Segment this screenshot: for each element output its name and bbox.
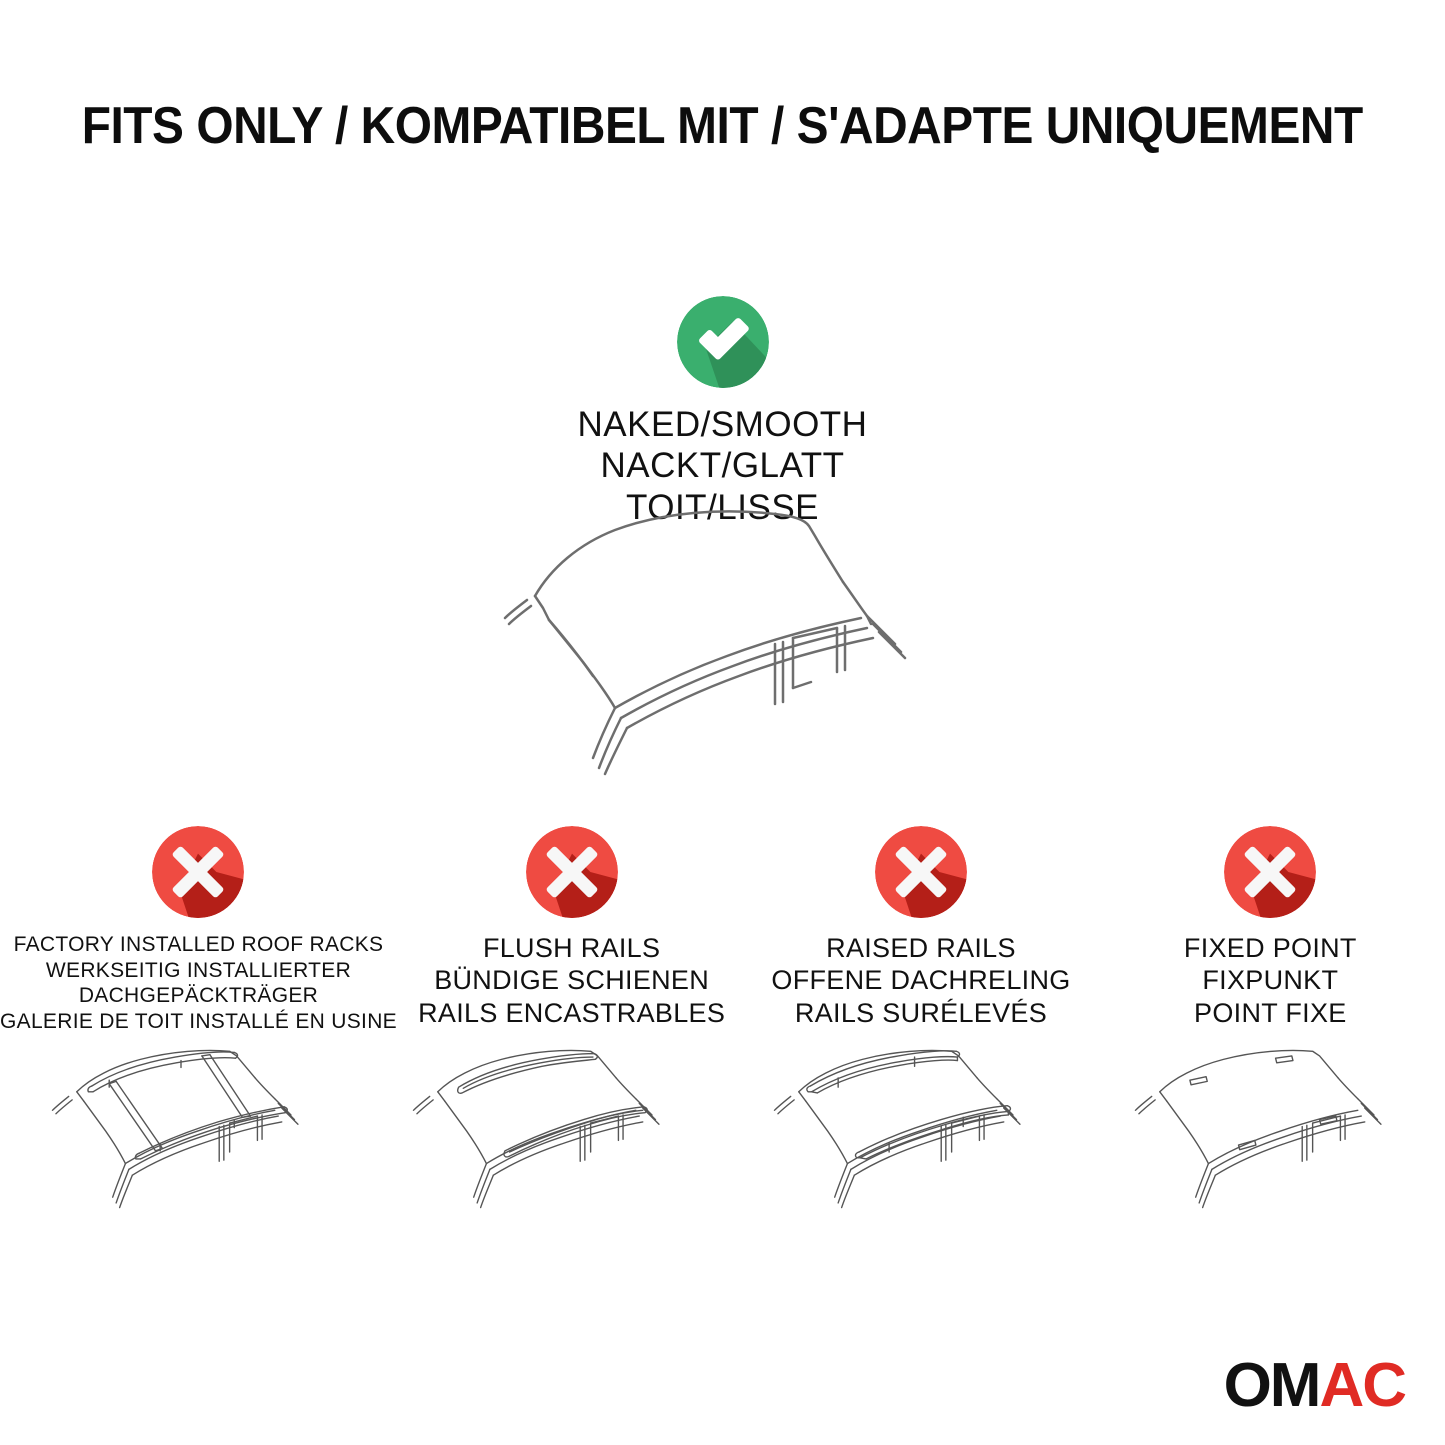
incompatible-label: FIXED POINT FIXPUNKT POINT FIXE	[1184, 932, 1357, 1029]
header: FITS ONLY / KOMPATIBEL MIT / S'ADAPTE UN…	[0, 100, 1445, 152]
x-circle-icon	[1224, 826, 1316, 918]
car-roof-raised-rails-illustration	[723, 1020, 1084, 1240]
incompatible-item-fixed-point: FIXED POINT FIXPUNKT POINT FIXE	[1096, 826, 1445, 1034]
logo-text-red: AC	[1319, 1351, 1405, 1420]
label-line-2: BÜNDIGE SCHIENEN	[418, 964, 725, 996]
label-line-2: FIXPUNKT	[1184, 964, 1357, 996]
incompatible-item-raised-rails: RAISED RAILS OFFENE DACHRELING RAILS SUR…	[746, 826, 1095, 1034]
compatible-label-line-1: NAKED/SMOOTH	[0, 404, 1445, 445]
incompatible-item-factory-installed-roof-racks: FACTORY INSTALLED ROOF RACKS WERKSEITIG …	[0, 826, 397, 1034]
compatible-label-line-2: NACKT/GLATT	[0, 445, 1445, 486]
label-line-3: DACHGEPÄCKTRÄGER	[0, 983, 397, 1009]
logo-text-dark: OM	[1224, 1351, 1320, 1420]
incompatible-label: FLUSH RAILS BÜNDIGE SCHIENEN RAILS ENCAS…	[418, 932, 725, 1029]
label-line-1: FIXED POINT	[1184, 932, 1357, 964]
x-circle-icon	[152, 826, 244, 918]
incompatible-label: RAISED RAILS OFFENE DACHRELING RAILS SUR…	[771, 932, 1070, 1029]
omac-logo: OMAC	[1224, 1355, 1405, 1417]
car-roof-factory-rack-illustration	[0, 1020, 361, 1240]
x-circle-icon	[875, 826, 967, 918]
label-line-1: RAISED RAILS	[771, 932, 1070, 964]
compatible-badge-wrap	[0, 296, 1445, 388]
car-roof-naked-smooth-illustration	[0, 496, 1445, 776]
car-roof-flush-rails-illustration	[361, 1020, 722, 1240]
label-line-2: OFFENE DACHRELING	[771, 964, 1070, 996]
x-circle-icon	[526, 826, 618, 918]
incompatible-illustrations	[0, 1020, 1445, 1240]
check-circle-icon	[677, 296, 769, 388]
incompatible-section: FACTORY INSTALLED ROOF RACKS WERKSEITIG …	[0, 826, 1445, 1034]
incompatible-item-flush-rails: FLUSH RAILS BÜNDIGE SCHIENEN RAILS ENCAS…	[397, 826, 746, 1034]
car-roof-fixed-point-illustration	[1084, 1020, 1445, 1240]
page-title: FITS ONLY / KOMPATIBEL MIT / S'ADAPTE UN…	[82, 100, 1363, 152]
label-line-2: WERKSEITIG INSTALLIERTER	[0, 958, 397, 984]
compatible-section: NAKED/SMOOTH NACKT/GLATT TOIT/LISSE	[0, 296, 1445, 528]
label-line-1: FLUSH RAILS	[418, 932, 725, 964]
label-line-1: FACTORY INSTALLED ROOF RACKS	[0, 932, 397, 958]
